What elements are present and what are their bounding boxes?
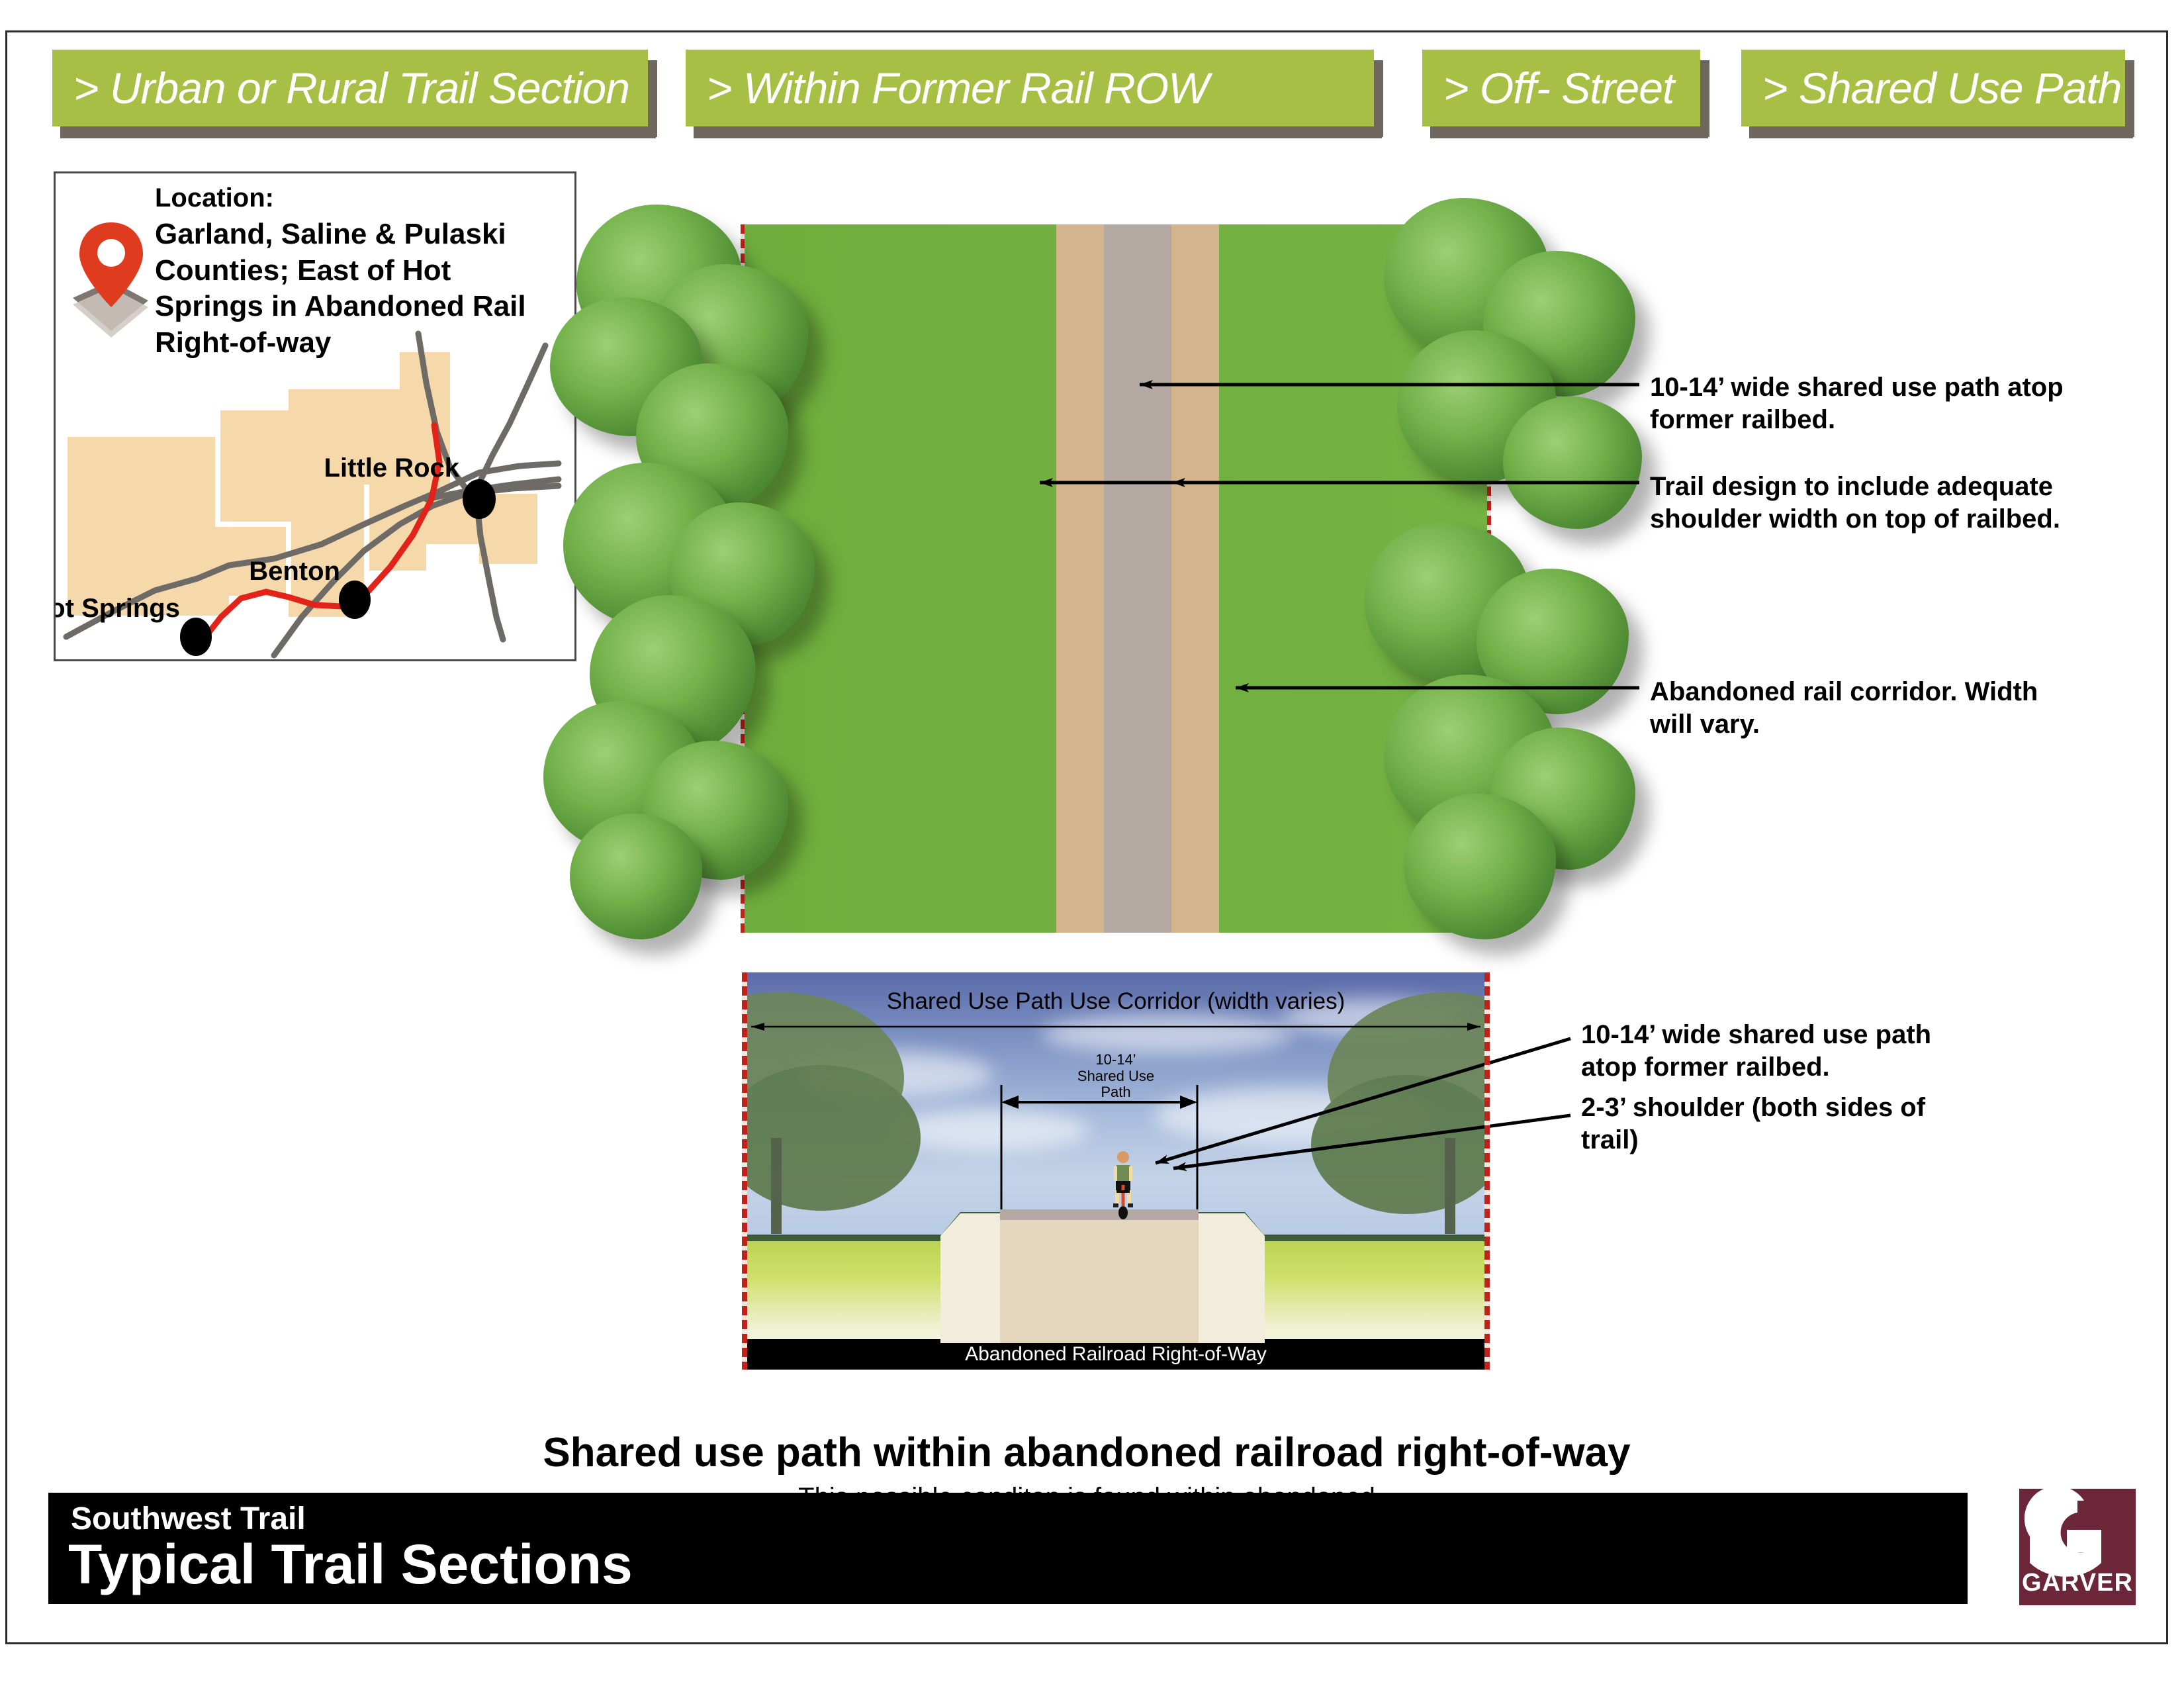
tab-label: > Urban or Rural Trail Section [73, 66, 629, 110]
tree-canopy [543, 701, 702, 853]
tab-bottom-shadow [60, 126, 656, 138]
dim-line: 10-14’ [974, 1052, 1257, 1068]
callout-text: Abandoned rail corridor. Width will vary… [1650, 677, 2038, 739]
city-dot-benton [339, 581, 371, 619]
location-panel: Location: Garland, Saline & Pulaski Coun… [54, 171, 576, 661]
tab-label: > Shared Use Path [1762, 66, 2122, 110]
tree-canopy [1503, 397, 1642, 529]
path-width-dimension-label: 10-14’ Shared Use Path [974, 1052, 1257, 1101]
dim-line: Shared Use [974, 1068, 1257, 1085]
tree-canopy [563, 463, 735, 628]
callout-text: 10-14’ wide shared use path atop former … [1581, 1020, 1931, 1082]
city-dot-hot-springs [180, 618, 212, 656]
tab-bottom-shadow [694, 126, 1382, 138]
callout-section-shoulder: 2-3’ shoulder (both sides of trail) [1581, 1092, 1978, 1156]
tab-off-street[interactable]: > Off- Street [1422, 50, 1700, 126]
cross-section-diagram: Shared Use Path Use Corridor (width vari… [742, 972, 1490, 1370]
project-name: Southwest Trail [71, 1503, 306, 1535]
header-tab-bar: > Urban or Rural Trail Section > Within … [7, 32, 2166, 145]
city-label-hot-springs: Hot Springs [56, 594, 180, 623]
tab-within-former-rail-row[interactable]: > Within Former Rail ROW [686, 50, 1374, 126]
dim-line: Path [974, 1084, 1257, 1101]
city-label-little-rock: Little Rock [324, 453, 460, 483]
plan-row-line-right [1487, 224, 1491, 933]
plan-shared-use-path [1104, 224, 1171, 933]
plan-row-line-left [741, 224, 745, 933]
garver-wordmark: GARVER [2019, 1569, 2136, 1597]
callout-section-path-width: 10-14’ wide shared use path atop former … [1581, 1019, 1991, 1084]
tab-right-shadow [1374, 60, 1383, 137]
city-label-benton: Benton [249, 557, 340, 586]
city-dot-little-rock [463, 479, 496, 519]
callout-text: 10-14’ wide shared use path atop former … [1650, 373, 2064, 434]
plan-view-diagram [742, 224, 1490, 933]
callout-plan-corridor: Abandoned rail corridor. Width will vary… [1650, 676, 2047, 741]
sheet-page: > Urban or Rural Trail Section > Within … [5, 30, 2168, 1644]
tab-right-shadow [648, 60, 657, 137]
tab-shared-use-path[interactable]: > Shared Use Path [1741, 50, 2125, 126]
vicinity-map[interactable]: Little Rock Benton Hot Springs [56, 326, 574, 659]
section-row-line-left [742, 972, 747, 1370]
tree-canopy [1477, 569, 1629, 714]
sheet-title: Typical Trail Sections [68, 1536, 633, 1592]
garver-logo: GARVER [2019, 1489, 2136, 1605]
section-row-line-right [1484, 972, 1490, 1370]
plan-shoulder-left [1056, 224, 1104, 933]
tab-right-shadow [2125, 60, 2134, 137]
tab-bottom-shadow [1430, 126, 1708, 138]
tree-canopy [570, 814, 702, 939]
corridor-dimension-arrow [742, 972, 1490, 1370]
tab-label: > Off- Street [1443, 66, 1674, 110]
tab-right-shadow [1700, 60, 1709, 137]
tree-canopy [1483, 251, 1635, 397]
plan-shoulder-right [1171, 224, 1219, 933]
callout-plan-path-width: 10-14’ wide shared use path atop former … [1650, 371, 2073, 436]
sheet-footer: Southwest Trail Typical Trail Sections [48, 1493, 1968, 1604]
tab-urban-or-rural-trail-section[interactable]: > Urban or Rural Trail Section [52, 50, 648, 126]
tree-canopy [576, 205, 742, 363]
figure-title: Shared use path within abandoned railroa… [7, 1429, 2166, 1476]
map-pin-icon [70, 220, 156, 339]
callout-plan-shoulder: Trail design to include adequate shoulde… [1650, 471, 2073, 536]
callout-text: Trail design to include adequate shoulde… [1650, 472, 2060, 534]
location-label: Location: [155, 183, 565, 214]
tab-bottom-shadow [1749, 126, 2133, 138]
tab-label: > Within Former Rail ROW [707, 66, 1208, 110]
tree-canopy [1490, 727, 1635, 870]
tree-canopy [590, 595, 755, 754]
callout-text: 2-3’ shoulder (both sides of trail) [1581, 1093, 1925, 1154]
